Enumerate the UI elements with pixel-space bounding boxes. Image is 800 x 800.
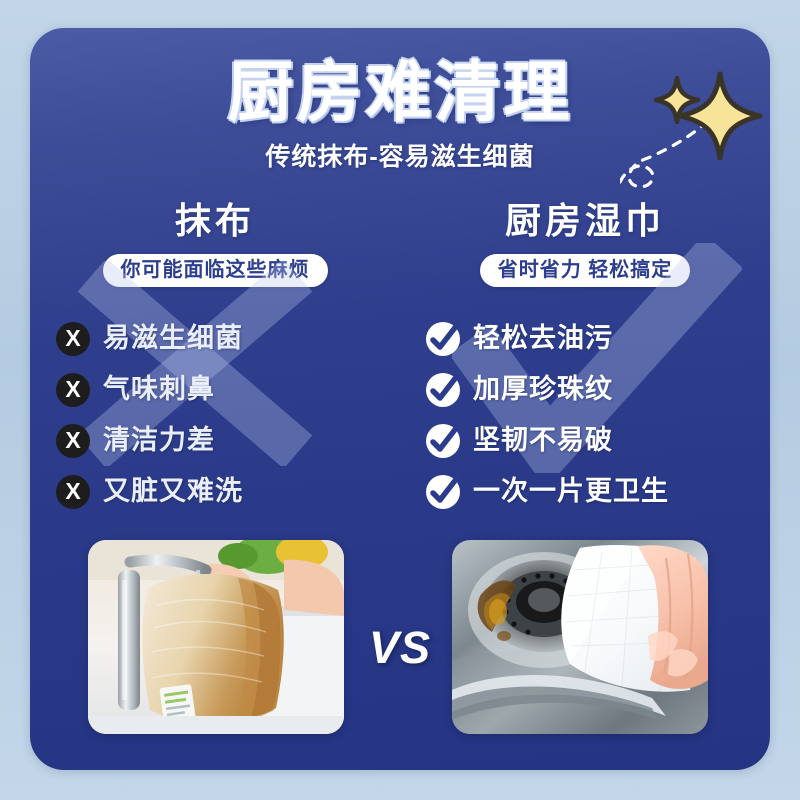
- stove-wipe-photo-svg: [452, 540, 708, 734]
- pill-wrap-cloth: 你可能面临这些麻烦: [30, 239, 400, 287]
- bullet-list-cloth: X 易滋生细菌 X 气味刺鼻 X 清洁力差: [30, 313, 400, 517]
- x-glyph: X: [65, 327, 80, 350]
- x-circle-icon: X: [56, 424, 90, 458]
- list-item-label: 清洁力差: [103, 427, 215, 454]
- list-item-label: 坚韧不易破: [473, 427, 613, 454]
- status-badge-cloth: 你可能面临这些麻烦: [103, 254, 328, 287]
- check-circle-icon: [426, 424, 460, 458]
- x-glyph: X: [65, 378, 80, 401]
- check-glyph-svg: [426, 424, 460, 458]
- list-item-label: 易滋生细菌: [103, 325, 243, 352]
- status-badge-wipes: 省时省力 轻松搞定: [480, 254, 691, 287]
- x-circle-icon: X: [56, 475, 90, 509]
- vs-label: VS: [360, 622, 440, 674]
- list-item-label: 气味刺鼻: [103, 376, 215, 403]
- list-item-label: 又脏又难洗: [103, 478, 243, 505]
- poster-root: 厨房难清理 传统抹布-容易滋生细菌 抹布 你可能面临这些麻烦: [0, 0, 800, 800]
- list-item: X 易滋生细菌: [56, 313, 400, 364]
- list-item: X 又脏又难洗: [56, 466, 400, 517]
- dirty-cloth-photo-svg: [88, 540, 344, 734]
- page-subtitle: 传统抹布-容易滋生细菌: [30, 137, 770, 173]
- list-item-label: 加厚珍珠纹: [473, 376, 613, 403]
- x-glyph: X: [65, 480, 80, 503]
- list-item: 一次一片更卫生: [426, 466, 770, 517]
- list-item: X 气味刺鼻: [56, 364, 400, 415]
- check-glyph-svg: [426, 322, 460, 356]
- x-circle-icon: X: [56, 322, 90, 356]
- check-circle-icon: [426, 373, 460, 407]
- check-glyph-svg: [426, 373, 460, 407]
- x-circle-icon: X: [56, 373, 90, 407]
- dirty-cloth-under-faucet-photo: [88, 540, 344, 734]
- pill-wrap-wipes: 省时省力 轻松搞定: [400, 239, 770, 287]
- column-heading-wipes: 厨房湿巾: [400, 203, 770, 239]
- list-item: 轻松去油污: [426, 313, 770, 364]
- column-heading-cloth: 抹布: [30, 203, 400, 239]
- main-card: 厨房难清理 传统抹布-容易滋生细菌 抹布 你可能面临这些麻烦: [30, 28, 770, 770]
- x-glyph: X: [65, 429, 80, 452]
- bullet-list-wipes: 轻松去油污 加厚珍珠纹: [400, 313, 770, 517]
- column-cloth: 抹布 你可能面临这些麻烦 X: [30, 203, 400, 533]
- header-block: 厨房难清理 传统抹布-容易滋生细菌: [30, 58, 770, 173]
- hand-wiping-gas-stove-photo: [452, 540, 708, 734]
- list-item: 加厚珍珠纹: [426, 364, 770, 415]
- photo-comparison: VS: [30, 540, 770, 745]
- check-glyph-svg: [426, 475, 460, 509]
- page-title: 厨房难清理: [30, 58, 770, 127]
- list-item: X 清洁力差: [56, 415, 400, 466]
- list-item-label: 一次一片更卫生: [473, 478, 669, 505]
- check-circle-icon: [426, 475, 460, 509]
- comparison-columns: 抹布 你可能面临这些麻烦 X: [30, 203, 770, 533]
- check-circle-icon: [426, 322, 460, 356]
- column-wipes: 厨房湿巾 省时省力 轻松搞定: [400, 203, 770, 533]
- list-item: 坚韧不易破: [426, 415, 770, 466]
- list-item-label: 轻松去油污: [473, 325, 613, 352]
